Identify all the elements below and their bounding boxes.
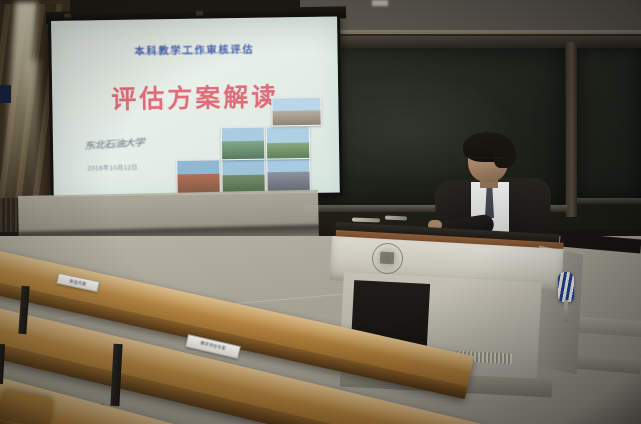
chalkboard-top-rail (300, 36, 641, 46)
presentation-slide: 本科教学工作审核评估 评估方案解读 东北石油大学 2016年10月12日 (51, 16, 340, 196)
campus-photo-5 (266, 126, 310, 160)
presenter-glasses (468, 157, 508, 165)
campus-photo-4 (221, 127, 265, 161)
projection-screen: 本科教学工作审核评估 评估方案解读 东北石油大学 2016年10月12日 (48, 13, 343, 200)
campus-photo-1 (177, 160, 221, 195)
ceiling-light (372, 0, 388, 6)
ceiling-tiles (300, 0, 641, 34)
flask-object (558, 272, 574, 302)
wall-blue-patch (0, 85, 11, 103)
campus-photo-6 (272, 96, 323, 127)
lecture-hall-photo: 本科教学工作审核评估 评估方案解读 东北石油大学 2016年10月12日 (0, 0, 641, 424)
campus-photo-2 (221, 159, 265, 194)
slide-date: 2016年10月12日 (88, 162, 138, 172)
slide-header-text: 本科教学工作审核评估 (51, 39, 337, 58)
chalkboard-panel-right (577, 48, 641, 198)
podium-microphone-right (385, 216, 407, 221)
campus-photo-3 (266, 158, 310, 193)
flask-stem (564, 300, 568, 322)
slide-photo-collage (173, 115, 334, 195)
chalk-ledge-right (577, 198, 641, 204)
slide-university-signature: 东北石油大学 (84, 135, 145, 153)
window-daylight-secondary (28, 60, 38, 210)
chalkboard-divider (566, 42, 577, 217)
